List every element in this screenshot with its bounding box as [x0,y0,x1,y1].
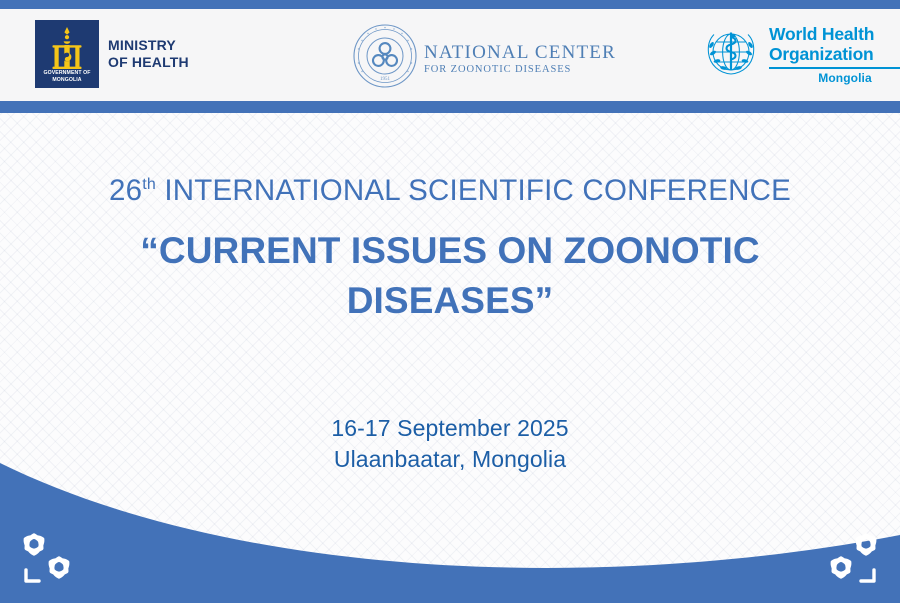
who-logo: World Health Organization Mongolia [700,24,900,91]
ministry-name-line-1: MINISTRY [108,37,189,54]
national-center-name: NATIONAL CENTER FOR ZOONOTIC DISEASES [424,42,616,76]
conference-number-line: 26th INTERNATIONAL SCIENTIFIC CONFERENCE [0,173,900,209]
ministry-name-line-2: OF HEALTH [108,54,189,71]
ministry-of-health-logo: GOVERNMENT OF MONGOLIA MINISTRY OF HEALT… [35,20,189,88]
mongolia-soyombo-emblem-icon: GOVERNMENT OF MONGOLIA [35,20,99,88]
who-country-label: Mongolia [769,71,900,85]
who-name-line-2: Organization [769,45,900,65]
title-block: 26th INTERNATIONAL SCIENTIFIC CONFERENCE… [0,173,900,326]
who-name-line-1: World Health [769,25,900,45]
national-center-name-line-2: FOR ZOONOTIC DISEASES [424,63,616,76]
page-title: “CURRENT ISSUES ON ZOONOTIC DISEASES” [0,226,900,326]
seal-year: 1951 [380,77,391,82]
conference-ordinal-suffix: th [142,176,156,193]
conference-line-text: INTERNATIONAL SCIENTIFIC CONFERENCE [164,174,791,207]
header-bottom-rule [0,101,900,113]
who-globe-laurel-asclepius-icon [700,24,762,91]
partner-logos-row: GOVERNMENT OF MONGOLIA MINISTRY OF HEALT… [0,9,900,101]
header-top-rule [0,0,900,9]
conference-ordinal: 26 [109,174,142,207]
ministry-of-health-name: MINISTRY OF HEALTH [108,37,189,71]
conference-title-slide: GOVERNMENT OF MONGOLIA MINISTRY OF HEALT… [0,0,900,603]
mongolian-knot-ornament-icon [12,525,88,591]
zoonotic-biohazard-seal-icon: 1951 [352,23,418,94]
curved-wave-banner-icon [0,443,900,603]
who-underline-divider [769,67,900,69]
who-wordmark: World Health Organization Mongolia [769,24,900,85]
mongolian-knot-ornament-icon [812,525,888,591]
emblem-caption: GOVERNMENT OF MONGOLIA [35,70,99,84]
event-date: 16-17 September 2025 [0,413,900,444]
national-center-name-line-1: NATIONAL CENTER [424,42,616,63]
national-center-zoonotic-diseases-logo: 1951 NATIONAL CENTER FOR ZOONOTIC DISEAS… [352,23,616,94]
